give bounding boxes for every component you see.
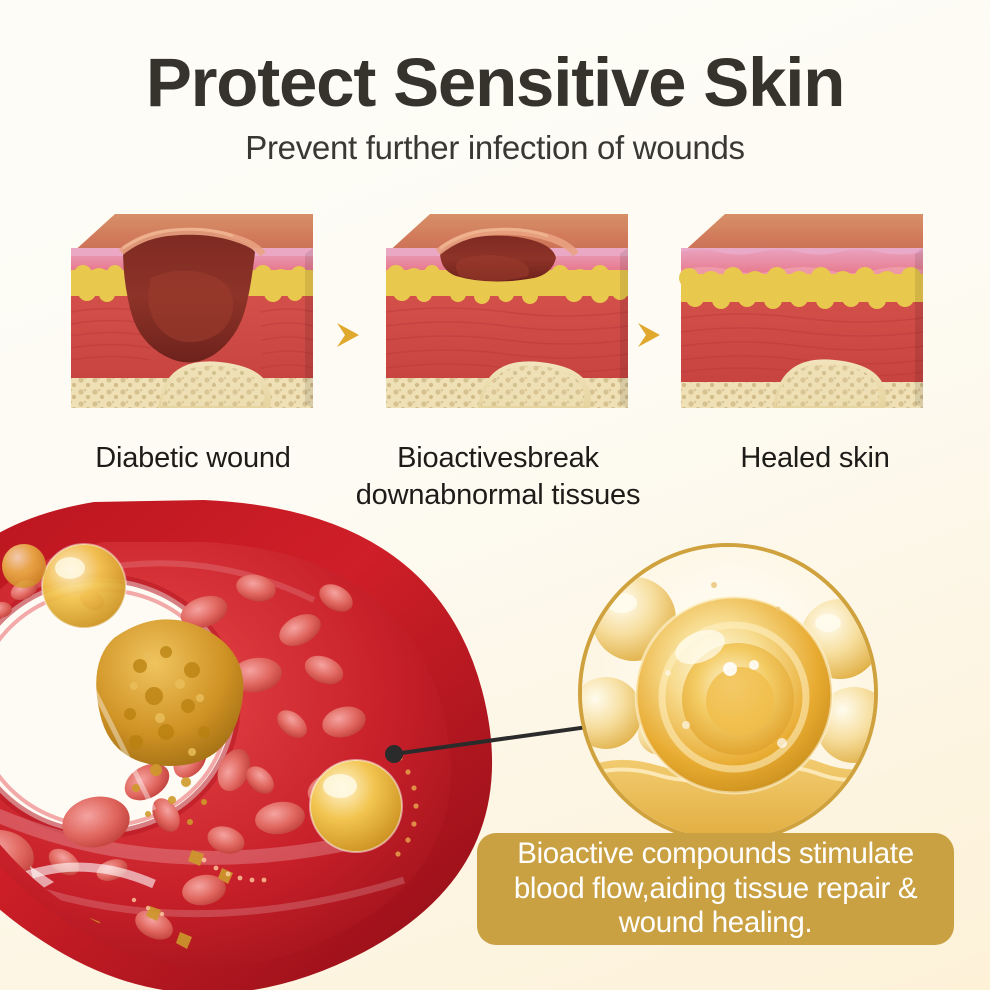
callout-text: Bioactive compounds stimulate blood flow… xyxy=(477,837,954,941)
skin-cross-section-open-wound xyxy=(63,208,321,420)
skin-cross-section-healing-wound xyxy=(378,208,636,420)
chevron-right-icon xyxy=(333,320,363,350)
stage-label-healed-skin: Healed skin xyxy=(665,440,965,477)
infographic-canvas: Protect Sensitive Skin Prevent further i… xyxy=(0,0,990,990)
callout-box: Bioactive compounds stimulate blood flow… xyxy=(477,833,954,945)
page-title: Protect Sensitive Skin xyxy=(0,48,990,117)
oil-droplet-magnifier xyxy=(578,543,878,843)
page-subtitle: Prevent further infection of wounds xyxy=(0,131,990,164)
skin-cross-section-healed xyxy=(673,208,931,420)
chevron-right-icon xyxy=(634,320,664,350)
